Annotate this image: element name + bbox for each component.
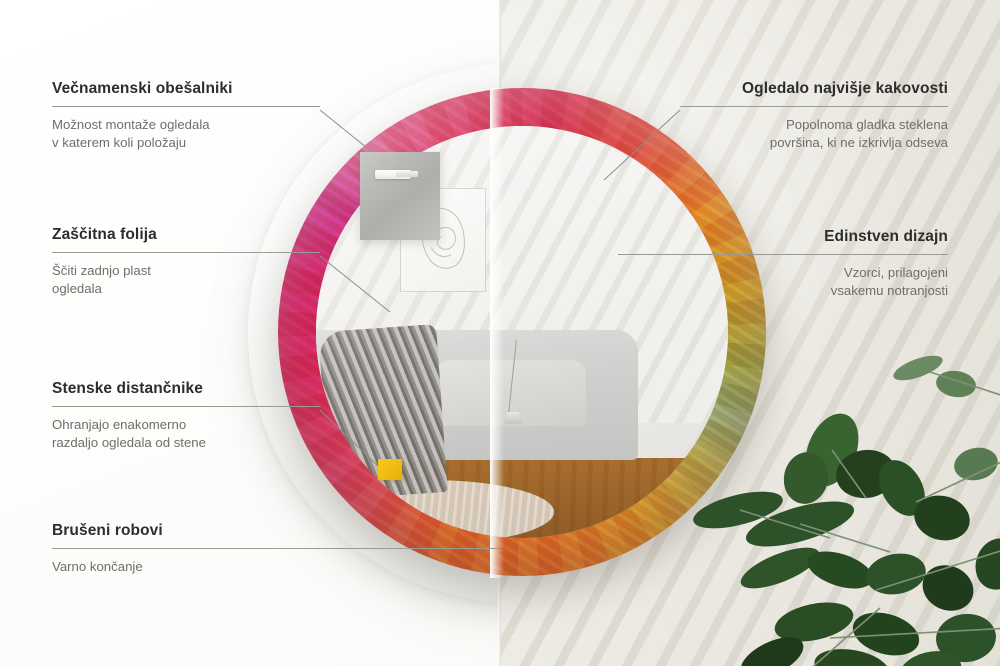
callout-title: Stenske distančnike — [52, 380, 320, 398]
callout-title: Večnamenski obešalniki — [52, 80, 320, 98]
callout-description: Vzorci, prilagojeni vsakemu notranjosti — [618, 264, 948, 300]
hanger-mount-plate — [360, 152, 440, 240]
callout-description: Ohranjajo enakomerno razdaljo ogledala o… — [52, 416, 320, 452]
callout-rule — [618, 254, 948, 255]
callout-wall-spacers: Stenske distančnike Ohranjajo enakomerno… — [52, 380, 320, 452]
callout-description: Popolnoma gladka steklena površina, ki n… — [680, 116, 948, 152]
callout-rule — [680, 106, 948, 107]
callout-unique-design: Edinstven dizajn Vzorci, prilagojeni vsa… — [618, 228, 948, 300]
callout-rule — [52, 252, 320, 253]
callout-description: Ščiti zadnjo plast ogledala — [52, 262, 320, 298]
callout-title: Ogledalo najvišje kakovosti — [680, 80, 948, 98]
callout-description: Varno končanje — [52, 558, 500, 576]
hanger-clip-secondary-icon — [396, 171, 418, 177]
callout-rule — [52, 406, 320, 407]
callout-protective-film: Zaščitna folija Ščiti zadnjo plast ogled… — [52, 226, 320, 298]
callout-description: Možnost montaže ogledala v katerem koli … — [52, 116, 320, 152]
infographic-canvas: Večnamenski obešalniki Možnost montaže o… — [0, 0, 1000, 666]
callout-rule — [52, 106, 320, 107]
wall-spacer-block — [378, 459, 402, 480]
callout-polished-edges: Brušeni robovi Varno končanje — [52, 522, 500, 576]
callout-title: Edinstven dizajn — [618, 228, 948, 246]
callout-title: Zaščitna folija — [52, 226, 320, 244]
callout-title: Brušeni robovi — [52, 522, 500, 540]
plant-foliage — [680, 338, 1000, 666]
mirror-left-seam — [490, 88, 504, 578]
callout-multi-purpose-hangers: Večnamenski obešalniki Možnost montaže o… — [52, 80, 320, 152]
callout-top-quality-mirror: Ogledalo najvišje kakovosti Popolnoma gl… — [680, 80, 948, 152]
callout-rule — [52, 548, 500, 549]
